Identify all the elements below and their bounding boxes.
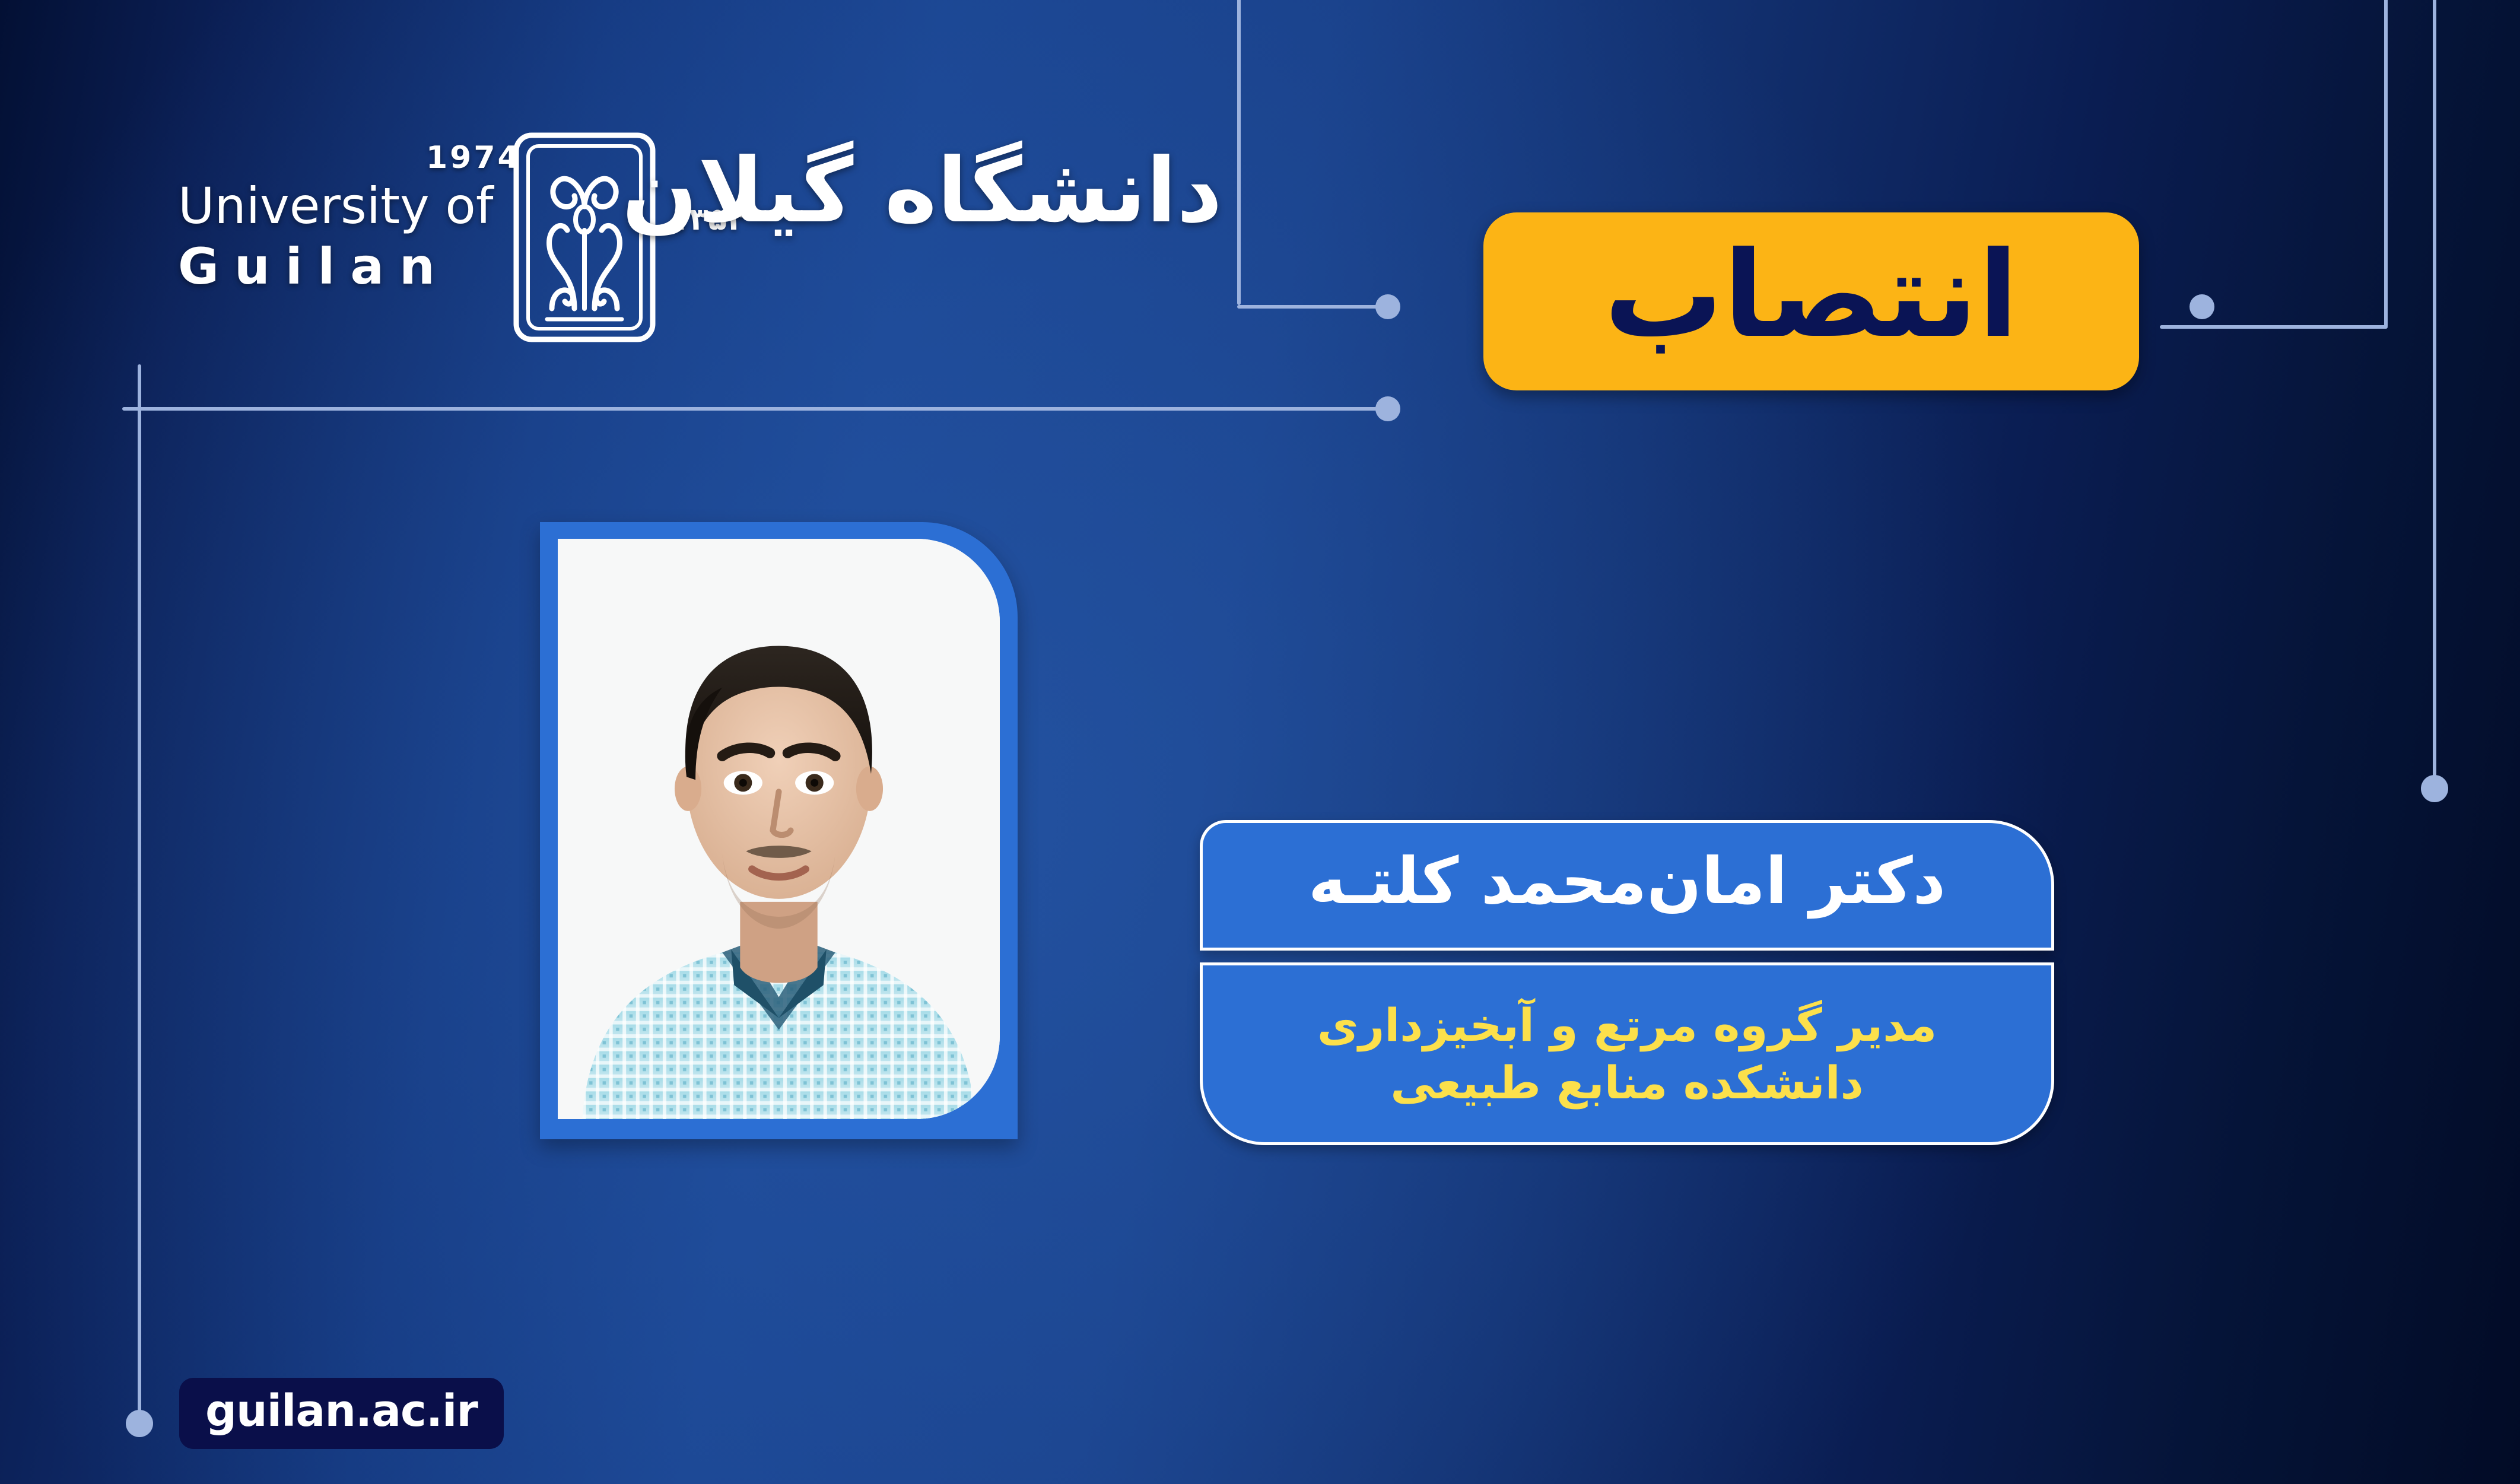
deco-dot-right-of-badge <box>2189 294 2214 319</box>
logo-university-word: University of <box>178 178 510 234</box>
deco-line-vertical-right-inner <box>2384 0 2388 328</box>
appointment-badge: انتصاب <box>1483 212 2139 390</box>
person-name: دکتر امان‌محمد کلتـه <box>1308 850 1946 914</box>
university-logo: 1974 University of Guilan ۱۳۵۳ دانشگاه گ… <box>178 136 1246 362</box>
logo-founding-year-en: 1974 <box>426 142 510 173</box>
logo-guilan-word: Guilan <box>178 237 510 295</box>
deco-line-vertical-right-edge <box>2433 0 2436 786</box>
appointment-badge-label: انتصاب <box>1604 236 2018 355</box>
deco-dot-upper <box>1375 294 1400 319</box>
deco-dot-lower-left <box>126 1410 153 1437</box>
deco-dot-mid <box>1375 396 1400 421</box>
portrait-photo <box>558 539 1000 1119</box>
deco-dot-right-edge <box>2421 775 2448 802</box>
appointment-banner: 1974 University of Guilan ۱۳۵۳ دانشگاه گ… <box>0 0 2520 1484</box>
person-title-line-1: مدیر گروه مرتع و آبخیزداری <box>1317 996 1937 1054</box>
logo-university-name-fa: دانشگاه گیلان <box>771 125 1222 258</box>
deco-line-horizontal-right <box>2160 325 2388 329</box>
website-url: guilan.ac.ir <box>205 1389 478 1433</box>
deco-line-vertical-left <box>138 364 141 1426</box>
person-name-card: دکتر امان‌محمد کلتـه <box>1200 820 2054 951</box>
person-title-line-2: دانشکده منابع طبیعی <box>1390 1054 1863 1111</box>
deco-line-horizontal-long <box>122 407 1383 411</box>
logo-english-text: 1974 University of Guilan <box>178 142 510 295</box>
person-title-card: مدیر گروه مرتع و آبخیزداری دانشکده منابع… <box>1200 962 2054 1145</box>
deco-line-horizontal-short <box>1237 305 1385 309</box>
website-badge[interactable]: guilan.ac.ir <box>179 1378 504 1449</box>
portrait-frame <box>540 522 1018 1139</box>
